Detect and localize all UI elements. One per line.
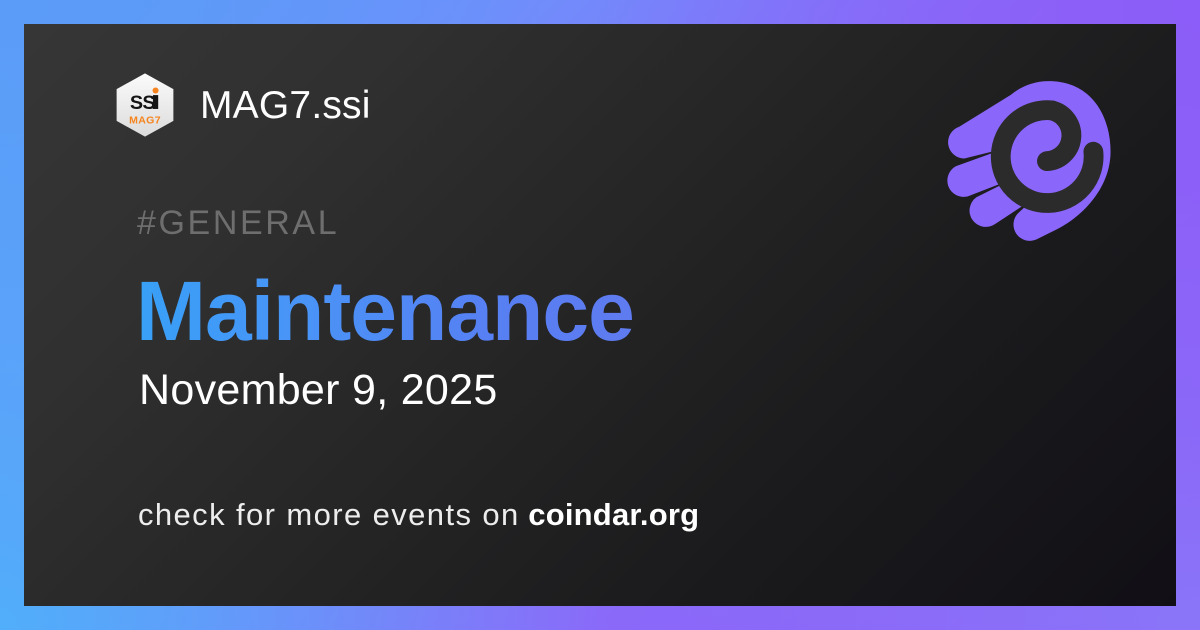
coindar-site-link[interactable]: coindar.org xyxy=(528,497,699,532)
footer-cta: check for more events on coindar.org xyxy=(138,499,699,530)
event-title: Maintenance xyxy=(136,267,634,355)
coindar-comet-icon xyxy=(942,76,1114,248)
svg-text:MAG7: MAG7 xyxy=(129,114,161,126)
coin-name: MAG7.ssi xyxy=(200,86,371,125)
mag7-ssi-hexagon-logo: SS MAG7 xyxy=(112,72,178,138)
event-category-tag: #GENERAL xyxy=(137,206,339,240)
footer-prefix-text: check for more events on xyxy=(138,497,520,532)
event-date: November 9, 2025 xyxy=(139,369,498,412)
event-card-frame: SS MAG7 MAG7.ssi xyxy=(0,0,1200,630)
token-header: SS MAG7 MAG7.ssi xyxy=(112,72,371,138)
event-card-panel: SS MAG7 MAG7.ssi xyxy=(24,24,1176,606)
svg-text:SS: SS xyxy=(130,92,156,114)
